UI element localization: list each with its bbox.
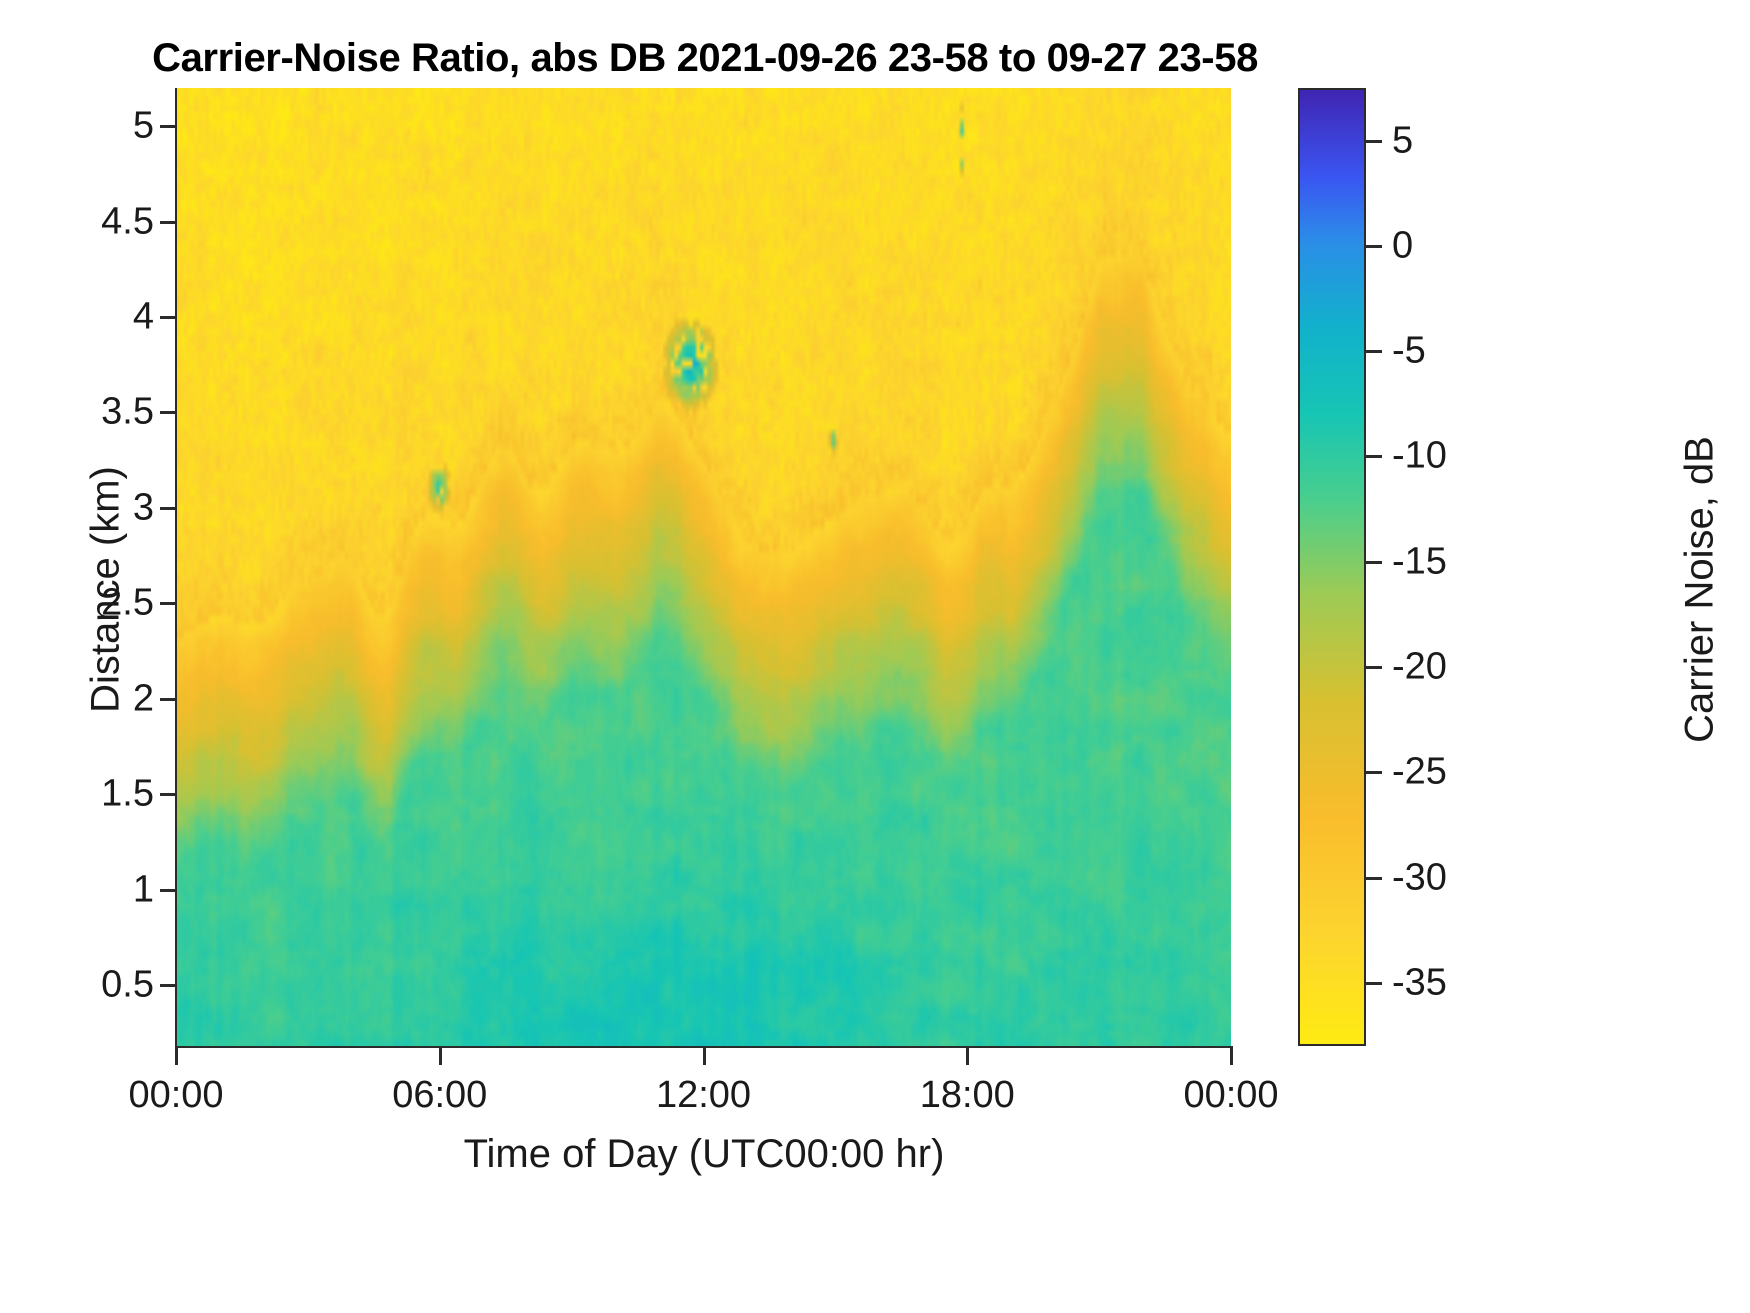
x-tick-label: 00:00 [128,1074,223,1117]
x-axis-label: Time of Day (UTC00:00 hr) [176,1132,1232,1177]
colorbar-tick-mark [1366,982,1382,985]
heatmap-plot-area[interactable] [176,88,1231,1046]
x-tick-label: 00:00 [1183,1074,1278,1117]
x-tick-mark [175,1046,178,1065]
y-tick-label: 5 [133,105,154,148]
y-tick-label: 1 [133,868,154,911]
colorbar-tick-label: -35 [1392,961,1447,1004]
y-tick-mark [160,316,177,319]
colorbar-tick-label: -15 [1392,540,1447,583]
x-tick-mark [439,1046,442,1065]
y-tick-label: 2 [133,677,154,720]
colorbar-tick-label: -5 [1392,330,1426,373]
colorbar-gradient [1300,90,1364,1044]
y-tick-mark [160,889,177,892]
colorbar-label: Carrier Noise, dB [1678,270,1723,910]
heatmap-canvas[interactable] [176,88,1231,1046]
colorbar-tick-label: 0 [1392,224,1413,267]
x-tick-label: 06:00 [392,1074,487,1117]
y-tick-label: 4 [133,296,154,339]
y-axis-line [175,88,177,1046]
y-tick-mark [160,698,177,701]
y-tick-mark [160,984,177,987]
y-tick-mark [160,411,177,414]
y-tick-label: 3 [133,486,154,529]
y-tick-mark [160,507,177,510]
colorbar-tick-mark [1366,877,1382,880]
y-axis-label: Distance (km) [84,270,129,910]
x-tick-mark [703,1046,706,1065]
colorbar-tick-mark [1366,455,1382,458]
colorbar-tick-label: -20 [1392,646,1447,689]
colorbar-tick-mark [1366,666,1382,669]
y-tick-label: 0.5 [101,963,154,1006]
colorbar-tick-mark [1366,350,1382,353]
colorbar-tick-mark [1366,245,1382,248]
colorbar-tick-label: -25 [1392,751,1447,794]
y-tick-mark [160,602,177,605]
chart-figure: Carrier-Noise Ratio, abs DB 2021-09-26 2… [0,0,1750,1313]
chart-title: Carrier-Noise Ratio, abs DB 2021-09-26 2… [0,36,1410,81]
colorbar-tick-mark [1366,140,1382,143]
colorbar-tick-mark [1366,561,1382,564]
x-tick-label: 18:00 [920,1074,1015,1117]
y-tick-mark [160,125,177,128]
x-tick-mark [966,1046,969,1065]
y-tick-label: 4.5 [101,200,154,243]
y-tick-mark [160,793,177,796]
colorbar[interactable] [1298,88,1366,1046]
colorbar-tick-label: -10 [1392,435,1447,478]
colorbar-tick-label: 5 [1392,119,1413,162]
x-tick-mark [1230,1046,1233,1065]
y-tick-mark [160,221,177,224]
x-tick-label: 12:00 [656,1074,751,1117]
colorbar-tick-label: -30 [1392,856,1447,899]
colorbar-tick-mark [1366,771,1382,774]
